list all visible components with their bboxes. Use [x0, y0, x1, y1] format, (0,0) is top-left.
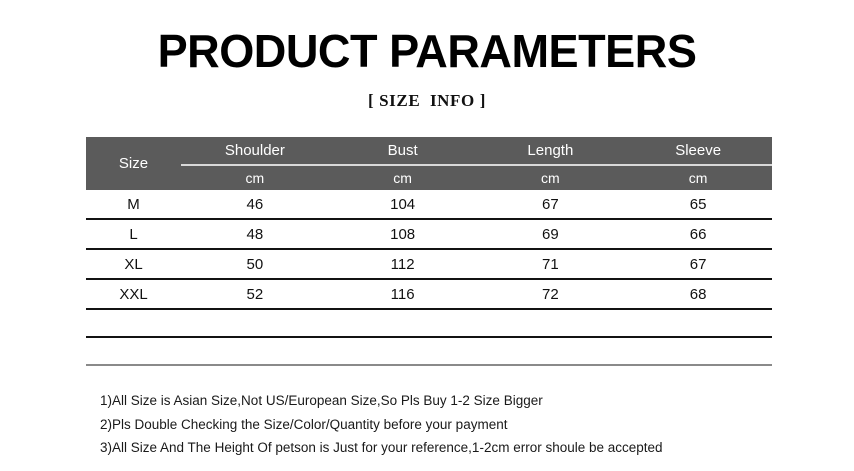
cell-size: L: [86, 220, 181, 248]
cell-sleeve: 66: [624, 220, 772, 248]
column-unit-bust: cm: [329, 165, 477, 190]
column-header-length: Length: [477, 138, 625, 164]
header-names-row: Shoulder Bust Length Sleeve: [181, 138, 772, 164]
cell-size: M: [86, 190, 181, 218]
table-row-empty: [86, 338, 772, 366]
header-units-row: cm cm cm cm: [181, 165, 772, 190]
cell-shoulder: 48: [181, 220, 329, 248]
column-header-sleeve: Sleeve: [624, 138, 772, 164]
cell-shoulder: 46: [181, 190, 329, 218]
cell-sleeve: 65: [624, 190, 772, 218]
page-title: PRODUCT PARAMETERS: [9, 26, 846, 76]
column-unit-shoulder: cm: [181, 165, 329, 190]
table-row: M 46 104 67 65: [86, 190, 772, 220]
cell-sleeve: 67: [624, 250, 772, 278]
cell-bust: 112: [329, 250, 477, 278]
cell-sleeve: 68: [624, 280, 772, 308]
footer-notes: 1)All Size is Asian Size,Not US/European…: [100, 389, 800, 460]
cell-length: 67: [477, 190, 625, 218]
column-unit-sleeve: cm: [624, 165, 772, 190]
cell-bust: 104: [329, 190, 477, 218]
cell-shoulder: 52: [181, 280, 329, 308]
cell-length: 69: [477, 220, 625, 248]
column-header-shoulder: Shoulder: [181, 138, 329, 164]
column-header-bust: Bust: [329, 138, 477, 164]
cell-bust: 108: [329, 220, 477, 248]
column-unit-length: cm: [477, 165, 625, 190]
note-item: 2)Pls Double Checking the Size/Color/Qua…: [100, 413, 800, 437]
cell-size: XL: [86, 250, 181, 278]
cell-length: 72: [477, 280, 625, 308]
note-item: 3)All Size And The Height Of petson is J…: [100, 436, 800, 460]
table-row: XL 50 112 71 67: [86, 250, 772, 280]
page-subtitle: [ SIZE INFO ]: [0, 90, 854, 112]
note-item: 1)All Size is Asian Size,Not US/European…: [100, 389, 800, 413]
cell-size: XXL: [86, 280, 181, 308]
table-header: Size Shoulder Bust Length Sleeve cm cm c…: [86, 137, 772, 190]
table-row: L 48 108 69 66: [86, 220, 772, 250]
cell-length: 71: [477, 250, 625, 278]
table-row-empty: [86, 310, 772, 338]
table-row: XXL 52 116 72 68: [86, 280, 772, 310]
size-table: Size Shoulder Bust Length Sleeve cm cm c…: [86, 137, 772, 366]
size-chart-page: PRODUCT PARAMETERS [ SIZE INFO ] Size Sh…: [0, 0, 854, 471]
cell-bust: 116: [329, 280, 477, 308]
cell-shoulder: 50: [181, 250, 329, 278]
column-header-size: Size: [86, 137, 181, 190]
